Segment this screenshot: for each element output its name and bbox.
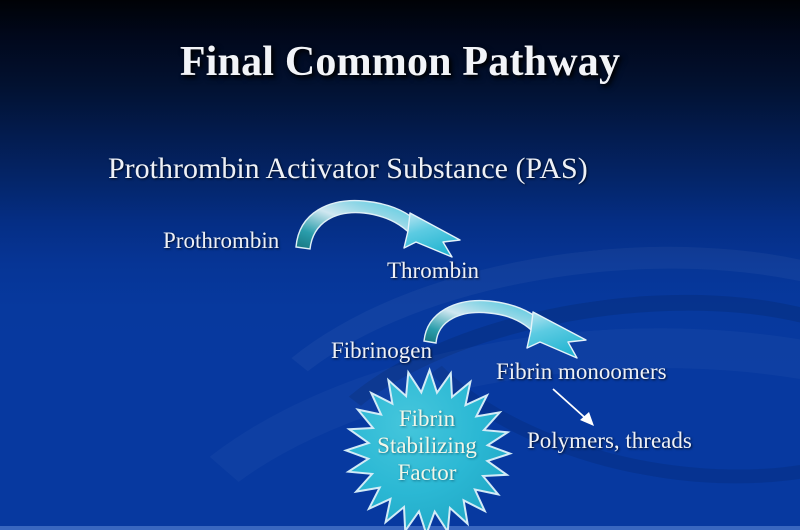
label-fibrinogen: Fibrinogen: [331, 338, 432, 364]
label-prothrombin: Prothrombin: [163, 228, 279, 254]
slide-canvas: Final Common Pathway Prothrombin Activat…: [0, 0, 800, 530]
burst-text-line-3: Factor: [352, 459, 502, 486]
burst-text: Fibrin Stabilizing Factor: [352, 405, 502, 486]
arrow-prothrombin-to-thrombin: [296, 201, 460, 257]
arrow-fibrin-monomers-to-polymers: [553, 389, 594, 426]
label-polymers-threads: Polymers, threads: [527, 428, 692, 454]
arrow-fibrinogen-to-fibrin-monomers: [424, 301, 586, 358]
burst-text-line-1: Fibrin: [352, 405, 502, 432]
label-thrombin: Thrombin: [387, 258, 479, 284]
burst-text-line-2: Stabilizing: [352, 432, 502, 459]
label-fibrin-monomers: Fibrin monoomers: [496, 359, 667, 385]
